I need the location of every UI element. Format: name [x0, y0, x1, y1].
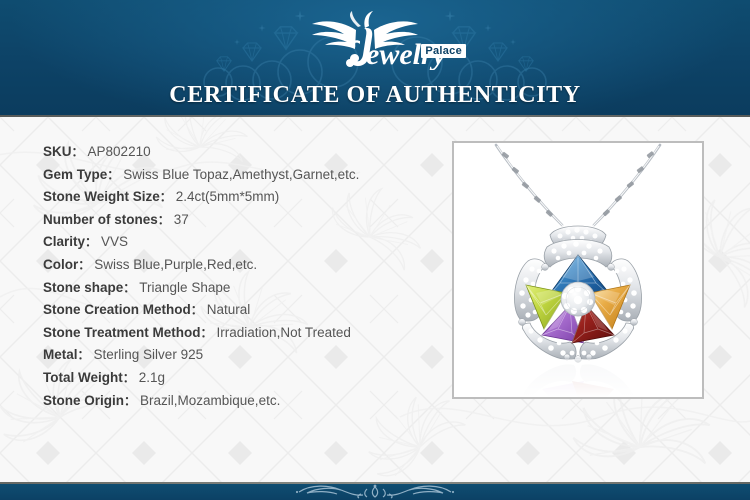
spec-value: Irradiation,Not Treated: [217, 325, 351, 340]
spec-value: VVS: [101, 234, 128, 249]
spec-row-total-weight: Total Weight：2.1g: [43, 367, 443, 390]
spec-label: Stone Origin: [43, 393, 124, 408]
spec-label: Total Weight: [43, 370, 123, 385]
spec-colon: ：: [158, 213, 170, 227]
spec-colon: ：: [85, 235, 97, 249]
spec-value: Natural: [207, 302, 251, 317]
spec-value: 2.4ct(5mm*5mm): [176, 189, 280, 204]
spec-label: Gem Type: [43, 167, 107, 182]
certificate-page: ewelry Palace CERTIFICATE OF AUTHENTICIT…: [0, 0, 750, 500]
product-photo-frame: [452, 141, 704, 399]
certificate-header: ewelry Palace CERTIFICATE OF AUTHENTICIT…: [0, 0, 750, 117]
specification-list: SKU：AP802210 Gem Type：Swiss Blue Topaz,A…: [43, 141, 443, 412]
spec-row-gem-type: Gem Type：Swiss Blue Topaz,Amethyst,Garne…: [43, 164, 443, 187]
spec-colon: ：: [191, 303, 203, 317]
spec-colon: ：: [72, 145, 84, 159]
spec-label: Color: [43, 257, 78, 272]
spec-value: Triangle Shape: [139, 280, 230, 295]
spec-row-stone-creation-method: Stone Creation Method：Natural: [43, 299, 443, 322]
spec-label: Stone Treatment Method: [43, 325, 201, 340]
brand-palace-badge: Palace: [421, 44, 466, 58]
spec-colon: ：: [123, 371, 135, 385]
spec-row-stone-origin: Stone Origin：Brazil,Mozambique,etc.: [43, 390, 443, 413]
spec-label: Metal: [43, 347, 78, 362]
spec-row-stone-shape: Stone shape：Triangle Shape: [43, 277, 443, 300]
spec-label: Stone Weight Size: [43, 189, 160, 204]
spec-value: Sterling Silver 925: [94, 347, 204, 362]
spec-colon: ：: [107, 168, 119, 182]
spec-row-color: Color：Swiss Blue,Purple,Red,etc.: [43, 254, 443, 277]
spec-row-number-of-stones: Number of stones：37: [43, 209, 443, 232]
brand-logo: ewelry Palace: [0, 8, 750, 70]
spec-label: SKU: [43, 144, 72, 159]
page-title: CERTIFICATE OF AUTHENTICITY: [0, 82, 750, 109]
spec-row-metal: Metal：Sterling Silver 925: [43, 344, 443, 367]
spec-colon: ：: [160, 190, 172, 204]
spec-value: Swiss Blue,Purple,Red,etc.: [94, 257, 257, 272]
spec-label: Stone Creation Method: [43, 302, 191, 317]
spec-label: Number of stones: [43, 212, 158, 227]
spec-value: 37: [174, 212, 189, 227]
product-photo: [454, 143, 702, 397]
spec-value: Swiss Blue Topaz,Amethyst,Garnet,etc.: [123, 167, 359, 182]
flourish-ornament-icon: [285, 483, 465, 500]
spec-row-stone-weight-size: Stone Weight Size：2.4ct(5mm*5mm): [43, 186, 443, 209]
spec-colon: ：: [201, 326, 213, 340]
spec-value: Brazil,Mozambique,etc.: [140, 393, 280, 408]
spec-colon: ：: [78, 258, 90, 272]
spec-colon: ：: [123, 281, 135, 295]
certificate-body: SKU：AP802210 Gem Type：Swiss Blue Topaz,A…: [0, 117, 750, 482]
spec-label: Stone shape: [43, 280, 123, 295]
spec-colon: ：: [78, 348, 90, 362]
spec-row-stone-treatment-method: Stone Treatment Method：Irradiation,Not T…: [43, 322, 443, 345]
spec-colon: ：: [124, 394, 136, 408]
spec-row-sku: SKU：AP802210: [43, 141, 443, 164]
spec-value: 2.1g: [139, 370, 165, 385]
spec-value: AP802210: [88, 144, 151, 159]
spec-label: Clarity: [43, 234, 85, 249]
certificate-footer: [0, 482, 750, 500]
spec-row-clarity: Clarity：VVS: [43, 231, 443, 254]
butterfly-wings-icon: ewelry: [270, 8, 480, 70]
